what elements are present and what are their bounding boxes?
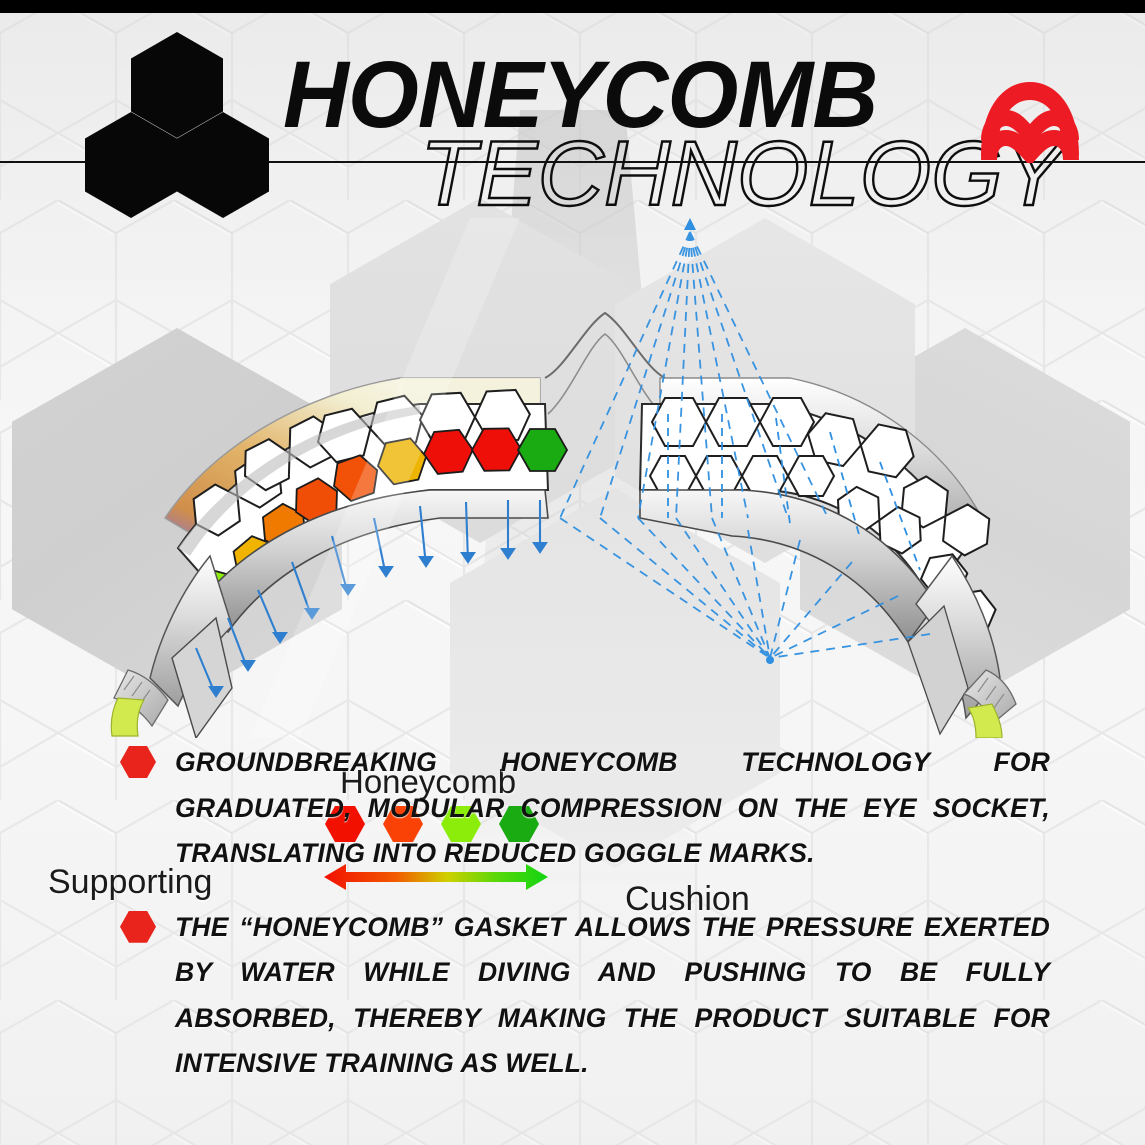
top-black-bar xyxy=(0,0,1145,13)
bullet-item-2: THE “HONEYCOMB” GASKET ALLOWS THE PRESSU… xyxy=(0,905,1145,1087)
goggle-cross-section-drawing xyxy=(0,218,1145,738)
bullet-text-1: GROUNDBREAKING HONEYCOMB TECHNOLOGY FOR … xyxy=(175,740,1050,877)
bullet-text-2: THE “HONEYCOMB” GASKET ALLOWS THE PRESSU… xyxy=(175,905,1050,1087)
infographic-page: HONEYCOMB TECHNOLOGY xyxy=(0,0,1145,1145)
bullet-list: GROUNDBREAKING HONEYCOMB TECHNOLOGY FOR … xyxy=(0,740,1145,1115)
header: HONEYCOMB TECHNOLOGY xyxy=(0,13,1145,218)
page-title: HONEYCOMB xyxy=(283,48,877,143)
red-hexagon-bullet-icon xyxy=(120,911,156,943)
goggle-illustration-stage: Supporting Cushion Honeycomb xyxy=(0,218,1145,738)
red-hexagon-bullet-icon xyxy=(120,746,156,778)
arena-arc-logo-icon xyxy=(975,68,1085,163)
bullet-item-1: GROUNDBREAKING HONEYCOMB TECHNOLOGY FOR … xyxy=(0,740,1145,877)
